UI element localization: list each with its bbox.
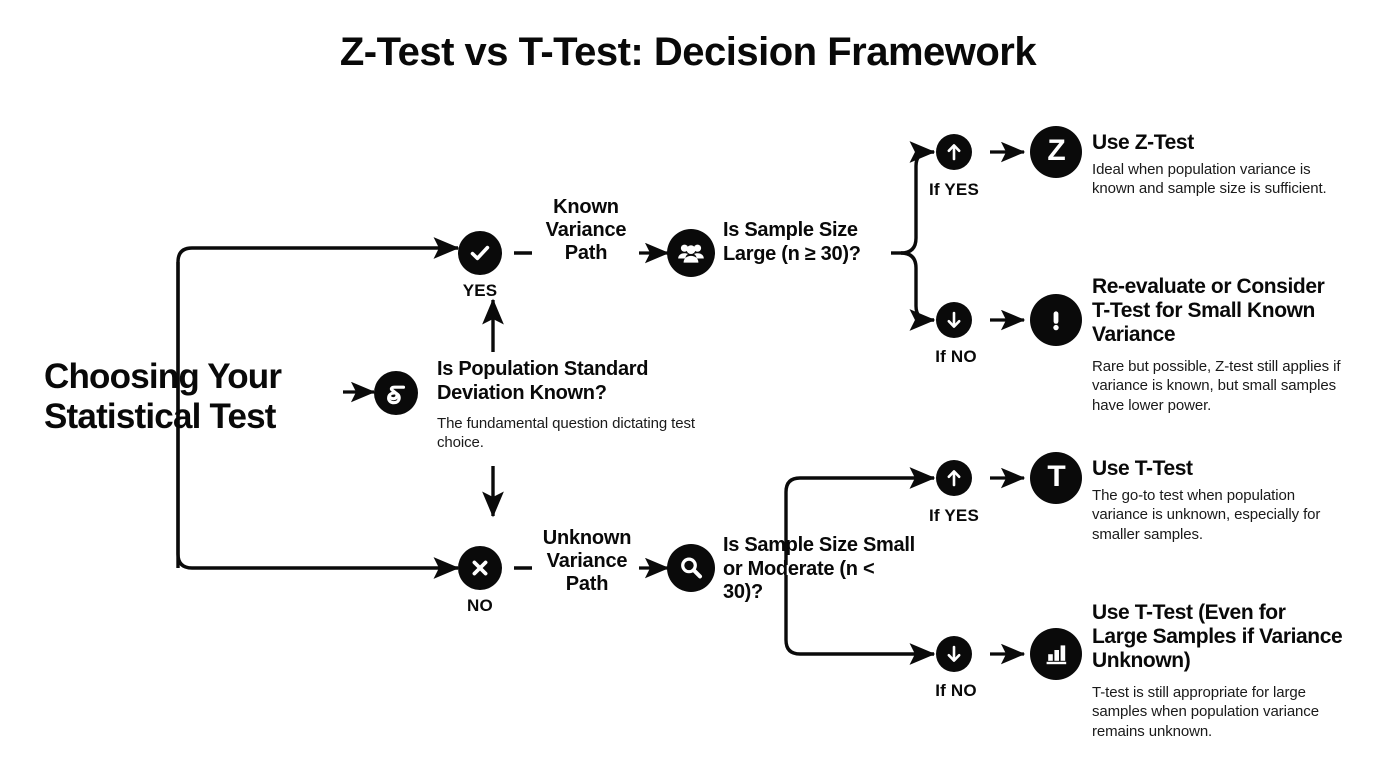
outcome-z-test-title: Use Z-Test bbox=[1092, 131, 1340, 155]
outcome-z-test: Use Z-Test Ideal when population varianc… bbox=[1092, 131, 1340, 199]
root-label: Choosing Your Statistical Test bbox=[44, 357, 344, 437]
magnifier-icon bbox=[667, 544, 715, 592]
bar-chart-icon bbox=[1030, 628, 1082, 680]
outcome-t-test-title: Use T-Test bbox=[1092, 457, 1342, 481]
arrow-up-circle-icon bbox=[936, 460, 972, 496]
yes-branch-question: Is Sample Size Large (n ≥ 30)? bbox=[723, 219, 898, 266]
no-no-arrow-caption: If NO bbox=[924, 681, 988, 701]
page-title: Z-Test vs T-Test: Decision Framework bbox=[0, 30, 1376, 75]
no-branch-question: Is Sample Size Small or Moderate (n < 30… bbox=[723, 534, 919, 605]
t-badge-icon: T bbox=[1030, 452, 1082, 504]
people-group-icon bbox=[667, 229, 715, 277]
check-circle-icon[interactable] bbox=[458, 231, 502, 275]
decision-question-text: Is Population Standard Deviation Known? bbox=[437, 358, 702, 405]
yes-no-arrow-caption: If NO bbox=[924, 347, 988, 367]
t-badge-letter: T bbox=[1047, 462, 1064, 492]
z-badge-letter: Z bbox=[1047, 136, 1064, 166]
yes-branch-caption: YES bbox=[448, 281, 512, 301]
yes-yes-arrow-caption: If YES bbox=[922, 180, 986, 200]
z-badge-icon: Z bbox=[1030, 126, 1082, 178]
outcome-t-test-large-title: Use T-Test (Even for Large Samples if Va… bbox=[1092, 601, 1344, 673]
no-yes-arrow-caption: If YES bbox=[922, 506, 986, 526]
outcome-reevaluate-desc: Rare but possible, Z-test still applies … bbox=[1092, 357, 1342, 416]
outcome-reevaluate: Re-evaluate or Consider T-Test for Small… bbox=[1092, 275, 1342, 415]
x-circle-icon[interactable] bbox=[458, 546, 502, 590]
outcome-reevaluate-title: Re-evaluate or Consider T-Test for Small… bbox=[1092, 275, 1342, 347]
decision-question: Is Population Standard Deviation Known? … bbox=[437, 358, 702, 453]
outcome-t-test: Use T-Test The go-to test when populatio… bbox=[1092, 457, 1342, 544]
outcome-t-test-large: Use T-Test (Even for Large Samples if Va… bbox=[1092, 601, 1344, 741]
arrow-up-circle-icon bbox=[936, 134, 972, 170]
yes-branch-path-label: Known Variance Path bbox=[531, 196, 641, 264]
outcome-t-test-large-desc: T-test is still appropriate for large sa… bbox=[1092, 683, 1344, 742]
outcome-z-test-desc: Ideal when population variance is known … bbox=[1092, 160, 1340, 199]
outcome-t-test-desc: The go-to test when population variance … bbox=[1092, 486, 1342, 545]
no-branch-path-label: Unknown Variance Path bbox=[531, 527, 643, 595]
no-branch-caption: NO bbox=[450, 596, 510, 616]
arrow-down-circle-icon bbox=[936, 636, 972, 672]
decision-question-subtext: The fundamental question dictating test … bbox=[437, 414, 702, 452]
sigma-icon bbox=[374, 371, 418, 415]
exclamation-circle-icon bbox=[1030, 294, 1082, 346]
arrow-down-circle-icon bbox=[936, 302, 972, 338]
